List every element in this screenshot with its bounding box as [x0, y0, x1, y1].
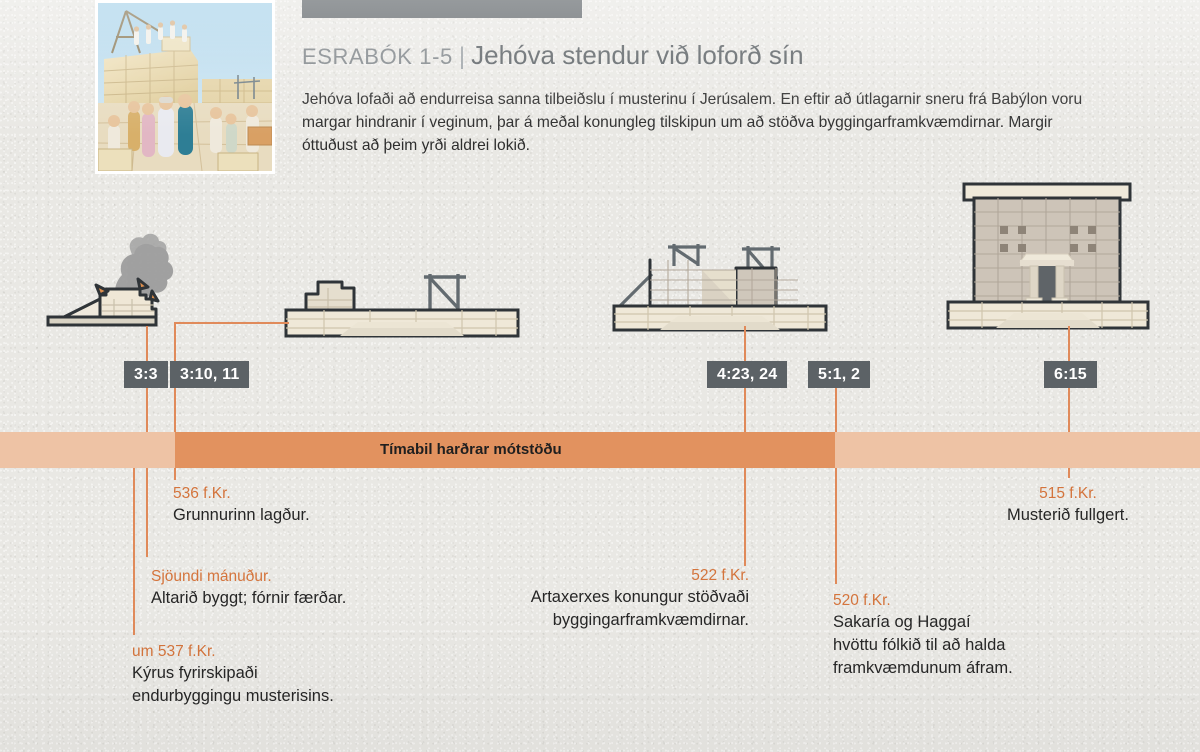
connector-foundation-vertical — [174, 322, 176, 362]
annotation-seventh-month-year: Sjöundi mánuður. — [151, 566, 346, 587]
temple-completed-illustration — [938, 170, 1158, 340]
artwork-thumbnail — [95, 0, 275, 174]
header-gray-block — [302, 0, 582, 18]
connector-partial-temple — [744, 326, 746, 362]
annotation-seventh-month-text: Altarið byggt; fórnir færðar. — [151, 587, 346, 610]
annotation-520-line1: Sakaría og Haggaí — [833, 611, 1013, 634]
annotation-537-year: um 537 f.Kr. — [132, 641, 334, 662]
annotation-537-line1: Kýrus fyrirskipaði — [132, 662, 334, 685]
connector-altar — [146, 326, 148, 362]
annotation-537: um 537 f.Kr. Kýrus fyrirskipaði endurbyg… — [132, 641, 334, 708]
annotation-522: 522 f.Kr. Artaxerxes konungur stöðvaði b… — [424, 565, 749, 632]
intro-paragraph: Jehóva lofaði að endurreisa sanna tilbei… — [302, 88, 1092, 157]
annotation-536-year: 536 f.Kr. — [173, 483, 310, 504]
scaffold-icon — [424, 274, 466, 314]
badge-6-15[interactable]: 6:15 — [1044, 361, 1097, 388]
annotation-536-text: Grunnurinn lagður. — [173, 504, 310, 527]
connector-seventh-month — [146, 388, 148, 557]
temple-foundation-illustration — [284, 258, 524, 340]
annotation-537-line2: endurbyggingu musterisins. — [132, 685, 334, 708]
annotation-522-year: 522 f.Kr. — [424, 565, 749, 586]
annotation-515: 515 f.Kr. Musterið fullgert. — [918, 483, 1200, 527]
annotation-520: 520 f.Kr. Sakaría og Haggaí hvöttu fólki… — [833, 590, 1013, 680]
annotation-522-line2: byggingarframkvæmdirnar. — [424, 609, 749, 632]
connector-537 — [133, 468, 135, 635]
annotation-522-line1: Artaxerxes konungur stöðvaði — [424, 586, 749, 609]
connector-completed-temple — [1068, 326, 1070, 362]
badge-5-1-2[interactable]: 5:1, 2 — [808, 361, 870, 388]
annotation-515-text: Musterið fullgert. — [918, 504, 1200, 527]
title-text: Jehóva stendur við loforð sín — [471, 40, 803, 70]
badge-4-23-24[interactable]: 4:23, 24 — [707, 361, 787, 388]
temple-partially-built-illustration — [612, 240, 832, 340]
connector-522 — [744, 388, 746, 566]
temple-construction-artwork — [98, 3, 272, 171]
annotation-seventh-month: Sjöundi mánuður. Altarið byggt; fórnir f… — [151, 566, 346, 610]
title-separator: | — [453, 43, 471, 70]
page-title: ESRABÓK 1-5|Jehóva stendur við loforð sí… — [302, 40, 804, 71]
annotation-520-year: 520 f.Kr. — [833, 590, 1013, 611]
annotation-520-line3: framkvæmdunum áfram. — [833, 657, 1013, 680]
scripture-reference: ESRABÓK 1-5 — [302, 44, 453, 69]
timeline-band-label: Tímabil harðrar mótstöðu — [380, 432, 562, 468]
connector-foundation-horizontal — [174, 322, 289, 324]
annotation-536: 536 f.Kr. Grunnurinn lagður. — [173, 483, 310, 527]
connector-520 — [835, 388, 837, 584]
badge-3-3[interactable]: 3:3 — [124, 361, 168, 388]
annotation-520-line2: hvöttu fólkið til að halda — [833, 634, 1013, 657]
annotation-515-year: 515 f.Kr. — [918, 483, 1200, 504]
badge-3-10-11[interactable]: 3:10, 11 — [170, 361, 249, 388]
